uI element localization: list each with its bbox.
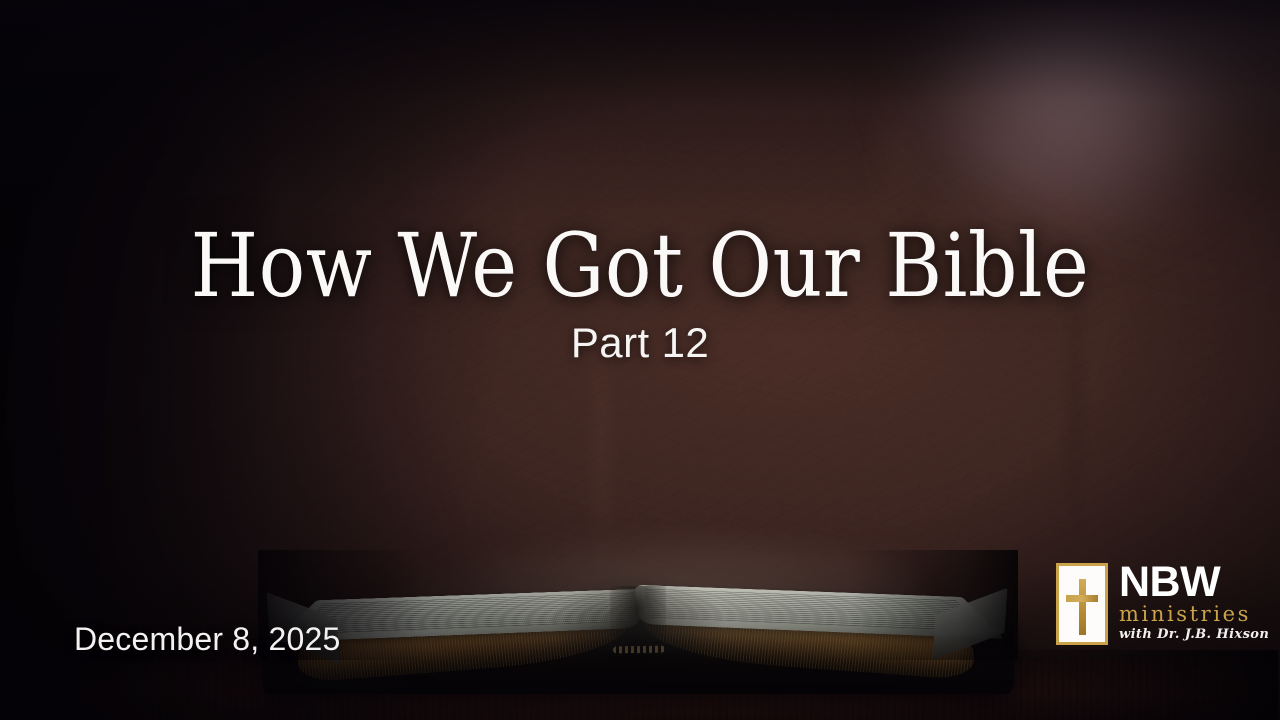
logo-brand-name: NBW	[1119, 562, 1269, 602]
cross-horizontal-bar	[1066, 595, 1098, 602]
slide-subtitle: Part 12	[0, 322, 1280, 364]
slide-date: December 8, 2025	[74, 623, 340, 655]
logo-tagline: with Dr. J.B. Hixson	[1119, 628, 1269, 642]
cross-icon	[1056, 563, 1108, 645]
sermon-title-slide: How We Got Our Bible Part 12 December 8,…	[0, 0, 1280, 720]
logo-wordmark: NBW ministries with Dr. J.B. Hixson	[1119, 562, 1269, 643]
cross-vertical-bar	[1079, 579, 1086, 635]
nbw-ministries-logo: NBW ministries with Dr. J.B. Hixson	[1056, 562, 1256, 658]
page-title: How We Got Our Bible	[77, 222, 1203, 310]
logo-brand-subtitle: ministries	[1119, 603, 1269, 625]
